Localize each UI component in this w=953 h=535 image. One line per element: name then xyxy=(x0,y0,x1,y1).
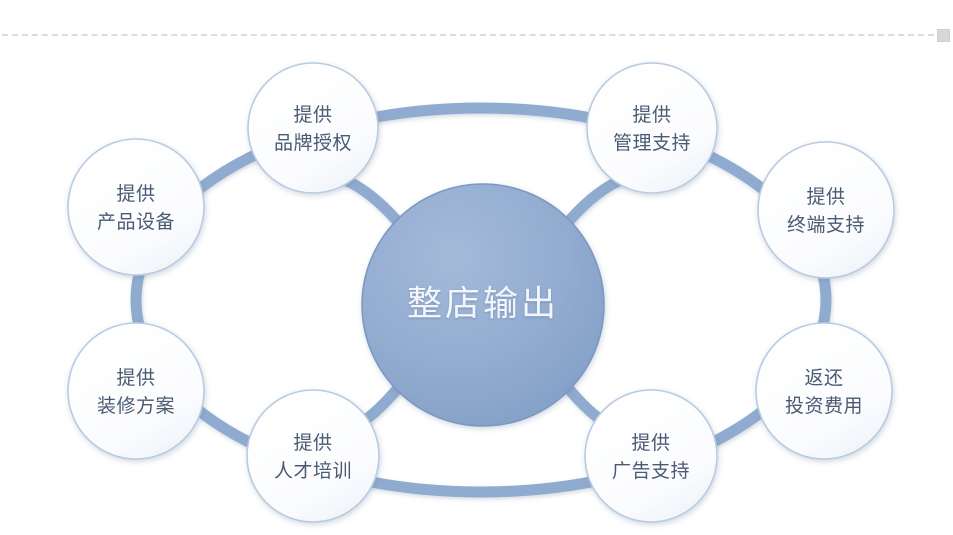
satellite-node-brand-authorization[interactable]: 提供 品牌授权 xyxy=(248,63,378,193)
satellite-node-talent-training[interactable]: 提供 人才培训 xyxy=(247,390,379,522)
satellite-label-line1: 返还 xyxy=(804,367,843,389)
satellite-circle[interactable] xyxy=(248,63,378,193)
satellite-circle[interactable] xyxy=(68,139,204,275)
smartart-diagram: 整店输出 提供 产品设备 提供 品牌授权 提供 管理支持 提供 终端支持 返还 … xyxy=(0,0,953,535)
satellite-label-line2: 广告支持 xyxy=(612,460,690,482)
satellite-node-advertising-support[interactable]: 提供 广告支持 xyxy=(585,390,717,522)
satellite-node-management-support[interactable]: 提供 管理支持 xyxy=(587,63,717,193)
satellite-label-line2: 品牌授权 xyxy=(274,132,352,154)
slide-canvas: 整店输出 提供 产品设备 提供 品牌授权 提供 管理支持 提供 终端支持 返还 … xyxy=(0,0,953,535)
satellite-node-terminal-support[interactable]: 提供 终端支持 xyxy=(758,142,894,278)
satellite-label-line1: 提供 xyxy=(631,432,670,454)
satellite-circle[interactable] xyxy=(756,323,892,459)
satellite-node-product-equipment[interactable]: 提供 产品设备 xyxy=(68,139,204,275)
satellite-label-line2: 人才培训 xyxy=(274,460,352,482)
center-node[interactable]: 整店输出 xyxy=(362,184,604,426)
satellite-circle[interactable] xyxy=(68,323,204,459)
satellite-label-line2: 投资费用 xyxy=(785,395,863,417)
satellite-label-line1: 提供 xyxy=(293,104,332,126)
satellite-node-return-investment-cost[interactable]: 返还 投资费用 xyxy=(756,323,892,459)
satellite-circle[interactable] xyxy=(247,390,379,522)
spoke-to-management-support xyxy=(568,178,626,222)
spoke-to-brand-authorization xyxy=(340,178,398,222)
satellite-circle[interactable] xyxy=(585,390,717,522)
satellite-label-line2: 装修方案 xyxy=(97,395,175,417)
satellite-label-line1: 提供 xyxy=(116,183,155,205)
satellite-label-line1: 提供 xyxy=(632,104,671,126)
satellite-label-line2: 管理支持 xyxy=(613,132,691,154)
center-node-label: 整店输出 xyxy=(407,284,559,323)
satellite-label-line1: 提供 xyxy=(806,186,845,208)
satellite-label-line2: 终端支持 xyxy=(787,214,865,236)
satellite-label-line1: 提供 xyxy=(293,432,332,454)
satellite-node-decoration-plan[interactable]: 提供 装修方案 xyxy=(68,323,204,459)
satellite-circle[interactable] xyxy=(587,63,717,193)
satellite-circle[interactable] xyxy=(758,142,894,278)
satellite-label-line1: 提供 xyxy=(116,367,155,389)
satellite-label-line2: 产品设备 xyxy=(97,211,175,233)
